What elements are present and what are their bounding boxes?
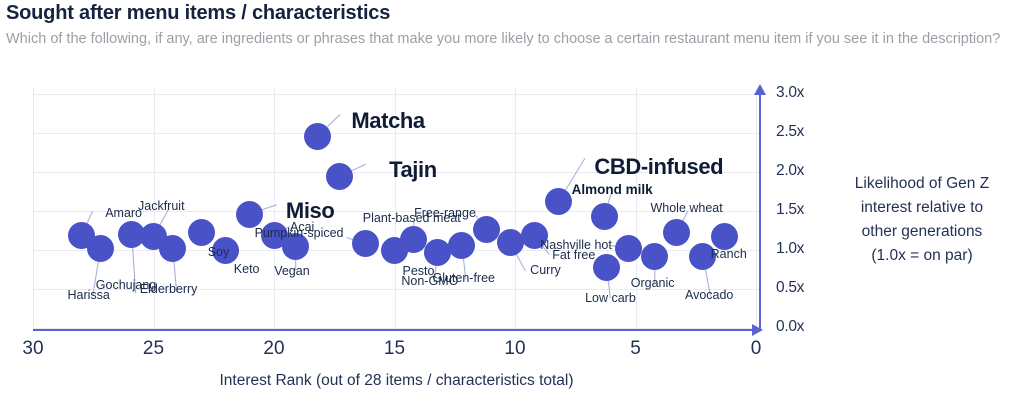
legend-line-4: (1.0x = on par)	[826, 244, 1018, 268]
x-axis-line	[33, 329, 756, 331]
y-axis-tick-label: 1.0x	[776, 240, 804, 258]
data-point-dot[interactable]	[304, 123, 331, 150]
data-point-dot[interactable]	[236, 201, 263, 228]
x-axis-tick-label: 15	[375, 338, 415, 360]
data-point-label: Ranch	[711, 247, 747, 261]
y-axis-tick-label: 2.0x	[776, 162, 804, 180]
data-point-label: Pumpkin-spiced	[255, 226, 344, 240]
x-axis-tick-label: 10	[495, 338, 535, 360]
data-point-label: Keto	[234, 262, 260, 276]
data-point-label: Nashville hot	[540, 238, 612, 252]
data-point-label: Avocado	[685, 288, 733, 302]
data-point-dot[interactable]	[159, 235, 186, 262]
data-point-dot[interactable]	[615, 235, 642, 262]
data-point-label: Matcha	[351, 108, 424, 134]
data-point-dot[interactable]	[68, 222, 95, 249]
data-point-dot[interactable]	[400, 226, 427, 253]
y-axis-tick-label: 3.0x	[776, 84, 804, 102]
x-axis-tick-label: 5	[616, 338, 656, 360]
data-point-dot[interactable]	[593, 254, 620, 281]
data-point-label: Organic	[631, 276, 675, 290]
data-point-label: Curry	[530, 263, 561, 277]
gridline-vertical	[274, 88, 275, 328]
data-point-label: Soy	[208, 245, 230, 259]
data-point-label: Tajin	[389, 157, 437, 183]
data-point-label: Almond milk	[572, 182, 653, 197]
data-point-label: Jackfruit	[138, 199, 185, 213]
gridline-vertical	[33, 88, 34, 328]
y-axis-line	[759, 92, 761, 331]
data-point-dot[interactable]	[641, 243, 668, 270]
legend-line-3: other generations	[826, 220, 1018, 244]
x-axis-tick-label: 0	[736, 338, 776, 360]
data-point-label: Elderberry	[140, 282, 198, 296]
y-axis-tick-label: 2.5x	[776, 123, 804, 141]
data-point-label: Vegan	[274, 264, 309, 278]
x-axis-tick-label: 30	[13, 338, 53, 360]
x-axis-title: Interest Rank (out of 28 items / charact…	[33, 372, 760, 390]
gridline-vertical	[756, 88, 757, 328]
data-point-dot[interactable]	[326, 163, 353, 190]
x-axis-tick-label: 20	[254, 338, 294, 360]
gridline-horizontal	[33, 94, 760, 95]
data-point-label: CBD-infused	[594, 154, 723, 180]
x-axis-arrow-icon	[752, 324, 763, 336]
data-point-label: Gluten-free	[432, 271, 495, 285]
data-point-dot[interactable]	[591, 203, 618, 230]
data-point-dot[interactable]	[545, 188, 572, 215]
data-point-dot[interactable]	[497, 229, 524, 256]
y-axis-arrow-icon	[754, 84, 766, 95]
legend-line-1: Likelihood of Gen Z	[826, 172, 1018, 196]
page-subtitle: Which of the following, if any, are ingr…	[6, 29, 1006, 50]
page-title: Sought after menu items / characteristic…	[6, 2, 390, 25]
legend-line-2: interest relative to	[826, 196, 1018, 220]
legend-note: Likelihood of Gen Z interest relative to…	[826, 172, 1018, 268]
x-axis-tick-label: 25	[134, 338, 174, 360]
data-point-label: Free-range	[414, 206, 476, 220]
data-point-label: Low carb	[585, 291, 636, 305]
y-axis-tick-label: 0.5x	[776, 279, 804, 297]
gridline-vertical	[515, 88, 516, 328]
y-axis-tick-label: 1.5x	[776, 201, 804, 219]
data-point-dot[interactable]	[473, 216, 500, 243]
data-point-dot[interactable]	[424, 239, 451, 266]
data-point-label: Whole wheat	[650, 201, 722, 215]
data-point-label: Amaro	[105, 206, 142, 220]
y-axis-tick-label: 0.0x	[776, 318, 804, 336]
